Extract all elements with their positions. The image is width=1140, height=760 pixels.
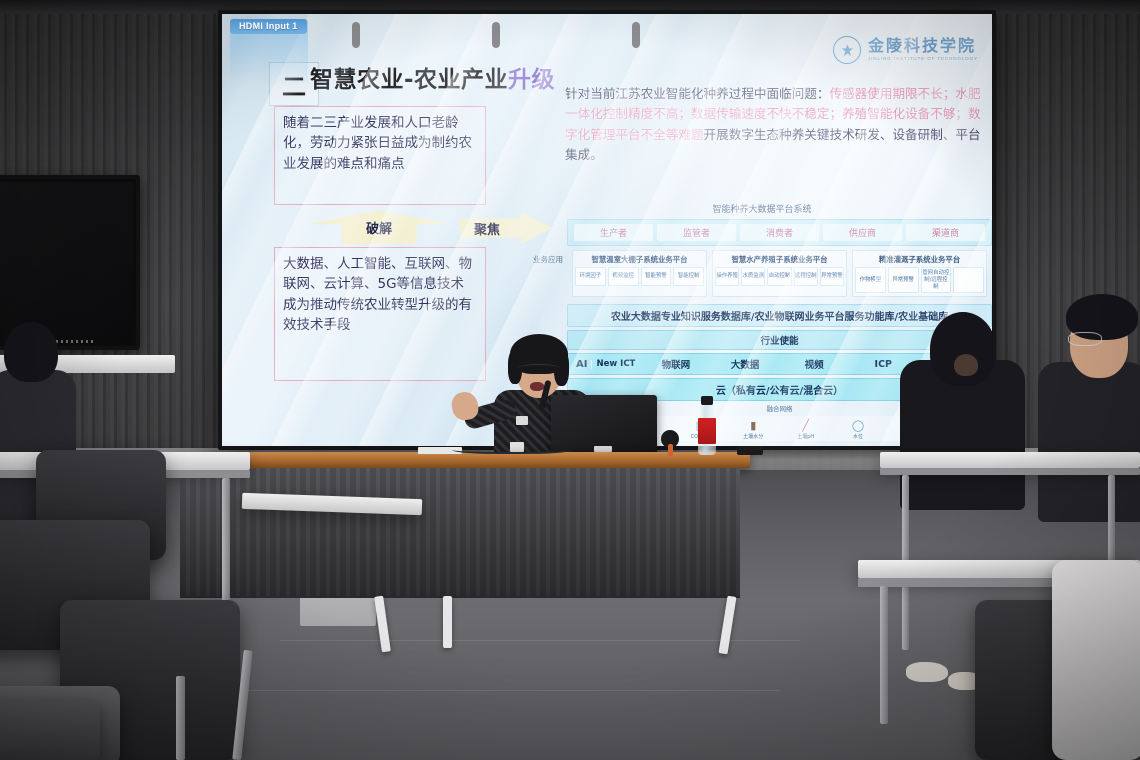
smartphone-on-desk (737, 446, 763, 455)
audience-torso (1038, 362, 1140, 522)
chair-leg (176, 676, 185, 760)
problem-statement-box: 随着二三产业发展和人口老龄化，劳动力紧张日益成为制约农业发展的难点和痛点 (274, 106, 486, 205)
stakeholder-roles-band: 生产者 监管者 消费者 供应商 渠道商 (567, 219, 992, 246)
audience-head (4, 322, 58, 382)
presenter-mouth (530, 382, 544, 391)
sensor-label: 水位 (833, 433, 883, 440)
audience-ponytail (954, 354, 978, 376)
page-title: 智慧农业-农业产业升级 (310, 60, 555, 94)
solution-statement-box: 大数据、人工智能、互联网、物联网、云计算、5G等信息技术成为推动传统农业转型升级… (274, 247, 486, 381)
subsystem-header: 智慧水产养殖子系统业务平台 (715, 253, 844, 267)
feature-cell: 水质监测 (741, 267, 765, 286)
arrow-up-label: 破解 (307, 210, 451, 244)
sensor-item: ▮ 土壤水分 (728, 418, 778, 440)
slide-title-main: 智慧农业-农业产业 (310, 67, 508, 93)
feature-cell: 作物模型 (855, 267, 886, 293)
desk-leg (880, 586, 888, 724)
desk-leg (443, 596, 452, 648)
slide-title-accent: 升级 (508, 67, 555, 93)
roles-and-subsystems: 生产者 监管者 消费者 供应商 渠道商 智慧温室大棚子系统业务平台 (567, 219, 992, 301)
handheld-microphone-body[interactable] (668, 444, 673, 456)
soil-moisture-icon: ▮ (728, 418, 778, 432)
hdmi-input-badge: HDMI Input 1 (230, 19, 307, 34)
sensor-label: 土壤水分 (728, 433, 778, 440)
audience-shoe (906, 662, 948, 682)
presenter-badge (516, 416, 528, 425)
research-paragraph: 针对当前江苏农业智能化种养过程中面临问题：传感器使用期限不长；水肥一体化控制精度… (565, 84, 989, 166)
desk-handle[interactable] (352, 22, 360, 48)
foreground-furniture (0, 700, 100, 760)
diagram-roles-row: 业务应用 生产者 监管者 消费者 供应商 渠道商 智慧 (532, 219, 992, 301)
subsystem-platforms-row: 智慧温室大棚子系统业务平台 环境因子 视频监控 智能预警 智能控制 (567, 246, 992, 301)
sensor-label: 土壤pH (781, 433, 831, 440)
logo-text: 金陵科技学院 JINLING INSTITUTE OF TECHNOLOGY (868, 38, 978, 62)
feature-cell: 管网自动控制/远程控制 (921, 267, 952, 293)
feature-cell: 智能控制 (673, 267, 704, 286)
audience-member (900, 300, 1030, 530)
classroom-scene: HDMI Input 1 二 智慧农业-农业产业升级 金陵科技学院 JINLIN… (0, 0, 1140, 760)
subsystem-feature-cells: 作物模型 异常预警 管网自动控制/远程控制 (855, 267, 984, 293)
audience-member (1042, 288, 1140, 538)
student-desk (880, 452, 1140, 468)
subsystem-aquaculture: 智慧水产养殖子系统业务平台 操作养殖 水质监测 自动控制 远程控制 异常预警 (712, 250, 847, 297)
desk-handle[interactable] (632, 22, 640, 48)
podium-desk-body (180, 468, 740, 598)
tech-item: 大数据 (710, 357, 779, 371)
role-item: 消费者 (740, 224, 819, 241)
feature-cell: 远程控制 (794, 267, 818, 286)
role-item: 渠道商 (906, 224, 985, 241)
water-bottle-cap (701, 396, 713, 405)
role-item: 供应商 (823, 224, 902, 241)
paragraph-lead: 针对当前江苏农业智能化种养过程中面临问题： (565, 86, 829, 101)
role-item: 生产者 (574, 224, 653, 241)
student-desk-edge (880, 468, 1140, 475)
desk-handle[interactable] (492, 22, 500, 48)
subsystem-irrigation: 精准灌溉子系统业务平台 作物模型 异常预警 管网自动控制/远程控制 (852, 250, 987, 297)
university-crest-icon (833, 36, 861, 64)
feature-cell: 异常预警 (888, 267, 919, 293)
feature-cell: 环境因子 (575, 267, 606, 286)
feature-cell: 自动控制 (767, 267, 791, 286)
arrow-up-breakthrough: 破解 (307, 210, 451, 244)
desk-cable (452, 444, 572, 454)
presenter-glasses-icon (517, 364, 561, 373)
sensor-item: ╱ 土壤pH (781, 418, 831, 440)
water-level-icon: ◯ (833, 418, 883, 432)
tech-item: 视频 (780, 357, 849, 371)
feature-cell: 智能预警 (641, 267, 672, 286)
subsystem-header: 精准灌溉子系统业务平台 (855, 253, 984, 267)
student-chair-back (1052, 560, 1140, 760)
role-item: 监管者 (657, 224, 736, 241)
feature-cell: 异常预警 (820, 267, 844, 286)
water-bottle-label (698, 418, 716, 444)
subsystem-feature-cells: 操作养殖 水质监测 自动控制 远程控制 异常预警 (715, 267, 844, 286)
feature-cell: 视频监控 (608, 267, 639, 286)
subsystem-header: 智慧温室大棚子系统业务平台 (575, 253, 704, 267)
logo-name-cn: 金陵科技学院 (868, 38, 978, 54)
institution-logo: 金陵科技学院 JINLING INSTITUTE OF TECHNOLOGY (833, 36, 978, 64)
feature-cell (953, 267, 984, 293)
subsystem-greenhouse: 智慧温室大棚子系统业务平台 环境因子 视频监控 智能预警 智能控制 (572, 250, 707, 297)
logo-name-en: JINLING INSTITUTE OF TECHNOLOGY (868, 57, 978, 62)
soil-ph-icon: ╱ (781, 418, 831, 432)
subsystem-feature-cells: 环境因子 视频监控 智能预警 智能控制 (575, 267, 704, 286)
audience-glasses-icon (1068, 332, 1102, 346)
tech-item: 物联网 (641, 357, 710, 371)
diagram-title: 智能种养大数据平台系统 (532, 202, 992, 215)
sensor-item: ◯ 水位 (833, 418, 883, 440)
feature-cell: 操作养殖 (715, 267, 739, 286)
row-label-business-application: 业务应用 (532, 219, 564, 301)
podium-desk-top (170, 452, 750, 468)
